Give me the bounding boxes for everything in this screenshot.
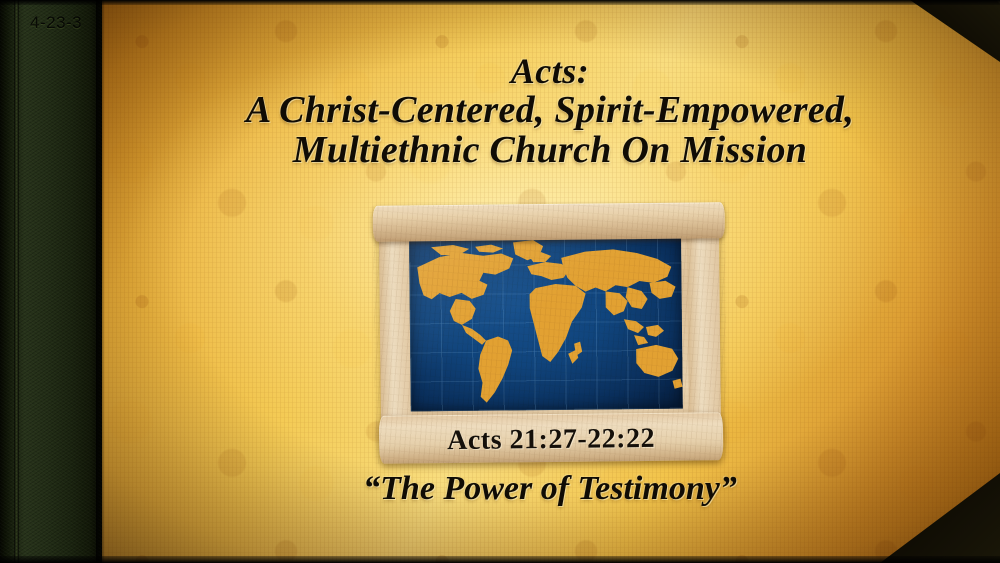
- slide-top-edge: [0, 0, 1000, 5]
- spine-code-label: 4-23-3: [30, 13, 82, 33]
- book-spine: 4-23-3: [0, 0, 102, 563]
- sermon-series-title: Acts: A Christ-Centered, Spirit-Empowere…: [110, 52, 990, 171]
- scroll-top-rod: [373, 202, 725, 242]
- spine-hinge: [14, 0, 19, 563]
- scroll-left-margin: [379, 231, 413, 437]
- sermon-subtitle: “The Power of Testimony”: [110, 470, 990, 508]
- scroll-right-margin: [687, 228, 721, 434]
- world-map-icon: [409, 235, 683, 412]
- spine-inner-edge: [96, 0, 104, 563]
- title-line-3: Multiethnic Church On Mission: [110, 130, 990, 170]
- map-light-sheen: [409, 235, 683, 412]
- sermon-title-slide: 4-23-3 Acts: A Christ-Centered, Spirit-E…: [0, 0, 1000, 563]
- verse-reference: Acts 21:27-22:22: [379, 422, 723, 458]
- title-line-1: Acts:: [110, 52, 990, 90]
- world-map-scroll: Acts 21:27-22:22: [373, 202, 728, 464]
- scroll-bottom-rod: Acts 21:27-22:22: [379, 412, 723, 464]
- slide-bottom-edge: [0, 556, 1000, 563]
- title-line-2: A Christ-Centered, Spirit-Empowered,: [110, 90, 990, 130]
